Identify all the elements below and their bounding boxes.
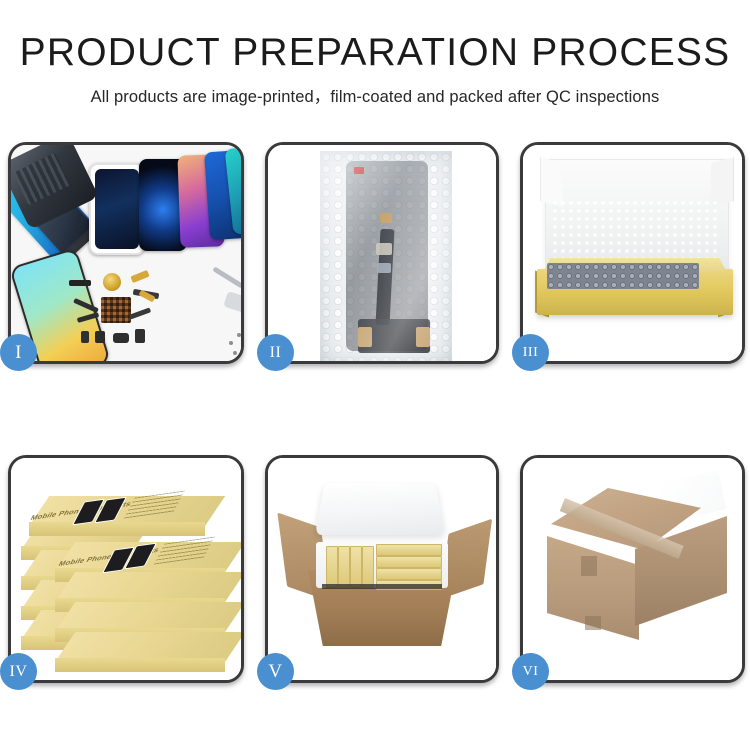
chip-part-2 bbox=[81, 331, 89, 343]
inner-box-1 bbox=[326, 546, 338, 588]
step-numeral-5: V bbox=[268, 662, 282, 681]
bubble-wrapped-screen-scene bbox=[268, 145, 496, 361]
product-preparation-infographic: PRODUCT PREPARATION PROCESS All products… bbox=[0, 0, 750, 750]
step-panel-6[interactable]: VI bbox=[520, 455, 745, 683]
inner-box-4 bbox=[362, 546, 374, 588]
screw-part-2 bbox=[237, 333, 241, 337]
speaker-coil-part bbox=[103, 273, 121, 291]
speaker-part bbox=[113, 333, 129, 343]
step-image-4: Mobile Phone Spare Parts Mobile Phone Sp… bbox=[11, 458, 241, 680]
step-image-6 bbox=[523, 458, 742, 680]
screw-part-1 bbox=[229, 341, 233, 345]
inner-box-2 bbox=[338, 546, 350, 588]
step-image-1 bbox=[11, 145, 241, 361]
step-badge-3: III bbox=[512, 334, 549, 371]
inner-box-6 bbox=[376, 556, 442, 568]
page-subtitle: All products are image-printed，film-coat… bbox=[0, 74, 750, 107]
sealed-carton-scene bbox=[523, 458, 742, 680]
pry-tool bbox=[223, 291, 241, 315]
wrap-gloss-highlight bbox=[320, 151, 452, 361]
carton-inner-shadow bbox=[322, 584, 442, 589]
stacked-boxes-scene: Mobile Phone Spare Parts Mobile Phone Sp… bbox=[11, 458, 241, 680]
step-image-2 bbox=[268, 145, 496, 361]
step-badge-2: II bbox=[257, 334, 294, 371]
step-badge-6: VI bbox=[512, 653, 549, 690]
stack-box-front-4 bbox=[55, 632, 225, 672]
step-badge-1: I bbox=[0, 334, 37, 371]
screen-protector bbox=[89, 163, 145, 255]
gold-contact-part-1 bbox=[130, 270, 149, 283]
step-numeral-1: I bbox=[15, 343, 22, 362]
copper-grid-part bbox=[101, 297, 131, 323]
step-image-5 bbox=[268, 458, 496, 680]
step-panel-1[interactable]: I bbox=[8, 142, 244, 364]
step-panel-4[interactable]: Mobile Phone Spare Parts Mobile Phone Sp… bbox=[8, 455, 244, 683]
carton-tab-upper bbox=[581, 556, 597, 576]
open-carton-scene bbox=[268, 458, 496, 680]
step-panel-2[interactable]: II bbox=[265, 142, 499, 364]
carton-tab-lower bbox=[585, 616, 601, 630]
flex-cable-part-4 bbox=[129, 307, 151, 319]
inner-box-3 bbox=[350, 546, 362, 588]
inner-box-7 bbox=[376, 568, 442, 580]
open-yellow-box-scene bbox=[523, 145, 742, 361]
chip-part-1 bbox=[135, 329, 145, 343]
screw-part-3 bbox=[233, 351, 237, 355]
page-title: PRODUCT PREPARATION PROCESS bbox=[0, 0, 750, 74]
tweezers-tool bbox=[212, 266, 241, 288]
step-image-3 bbox=[523, 145, 742, 361]
button-strip-part bbox=[69, 280, 91, 286]
step-badge-4: IV bbox=[0, 653, 37, 690]
inner-box-5 bbox=[376, 544, 442, 556]
step-numeral-3: III bbox=[523, 346, 539, 360]
bubble-wrap bbox=[320, 151, 452, 361]
box-stack: Mobile Phone Spare Parts Mobile Phone Sp… bbox=[21, 474, 237, 670]
step-numeral-2: II bbox=[270, 345, 282, 361]
phones-and-parts-scene bbox=[11, 145, 241, 361]
step-badge-5: V bbox=[257, 653, 294, 690]
step-numeral-4: IV bbox=[10, 664, 28, 680]
camera-module-part bbox=[95, 331, 105, 343]
step-numeral-6: VI bbox=[523, 665, 539, 679]
step-panel-5[interactable]: V bbox=[265, 455, 499, 683]
grey-bubble-wrap-contents bbox=[547, 263, 699, 289]
header: PRODUCT PREPARATION PROCESS All products… bbox=[0, 0, 750, 107]
step-panel-3[interactable]: III bbox=[520, 142, 745, 364]
foam-lid bbox=[315, 483, 445, 535]
steps-grid: I bbox=[0, 130, 750, 700]
